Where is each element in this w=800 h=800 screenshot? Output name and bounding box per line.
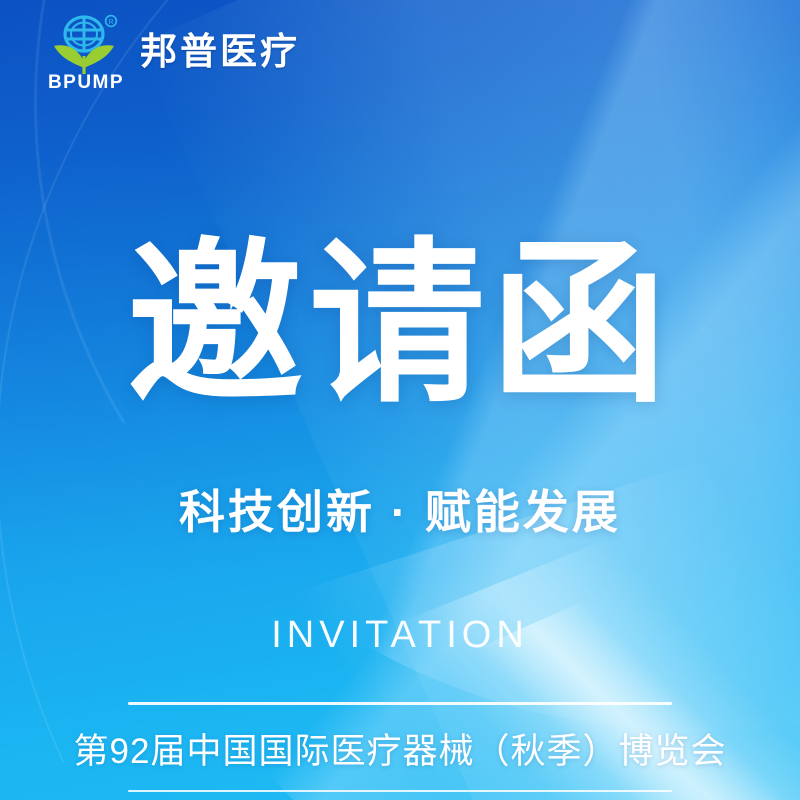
tagline: 科技创新 · 赋能发展 bbox=[0, 476, 800, 542]
brand-header: R BPUMP 邦普医疗 bbox=[46, 12, 300, 90]
invitation-label: INVITATION bbox=[0, 614, 800, 657]
poster-center-block: 邀请函 科技创新 · 赋能发展 INVITATION bbox=[0, 236, 800, 657]
registered-mark-icon: R bbox=[106, 16, 117, 27]
event-name: 第92届中国国际医疗器械（秋季）博览会 bbox=[0, 705, 800, 790]
company-name: 邦普医疗 bbox=[140, 33, 300, 70]
invitation-poster: R BPUMP 邦普医疗 邀请函 科技创新 · 赋能发展 INVITATION … bbox=[0, 0, 800, 800]
logo-wordmark: BPUMP bbox=[48, 72, 124, 93]
circle-grid-emblem-icon bbox=[65, 17, 103, 51]
bpump-logo: R BPUMP bbox=[46, 12, 126, 90]
footer-spacer bbox=[0, 792, 800, 800]
poster-footer: 第92届中国国际医疗器械（秋季）博览会 bbox=[0, 702, 800, 800]
page-title: 邀请函 bbox=[0, 236, 800, 416]
svg-text:R: R bbox=[108, 19, 113, 26]
